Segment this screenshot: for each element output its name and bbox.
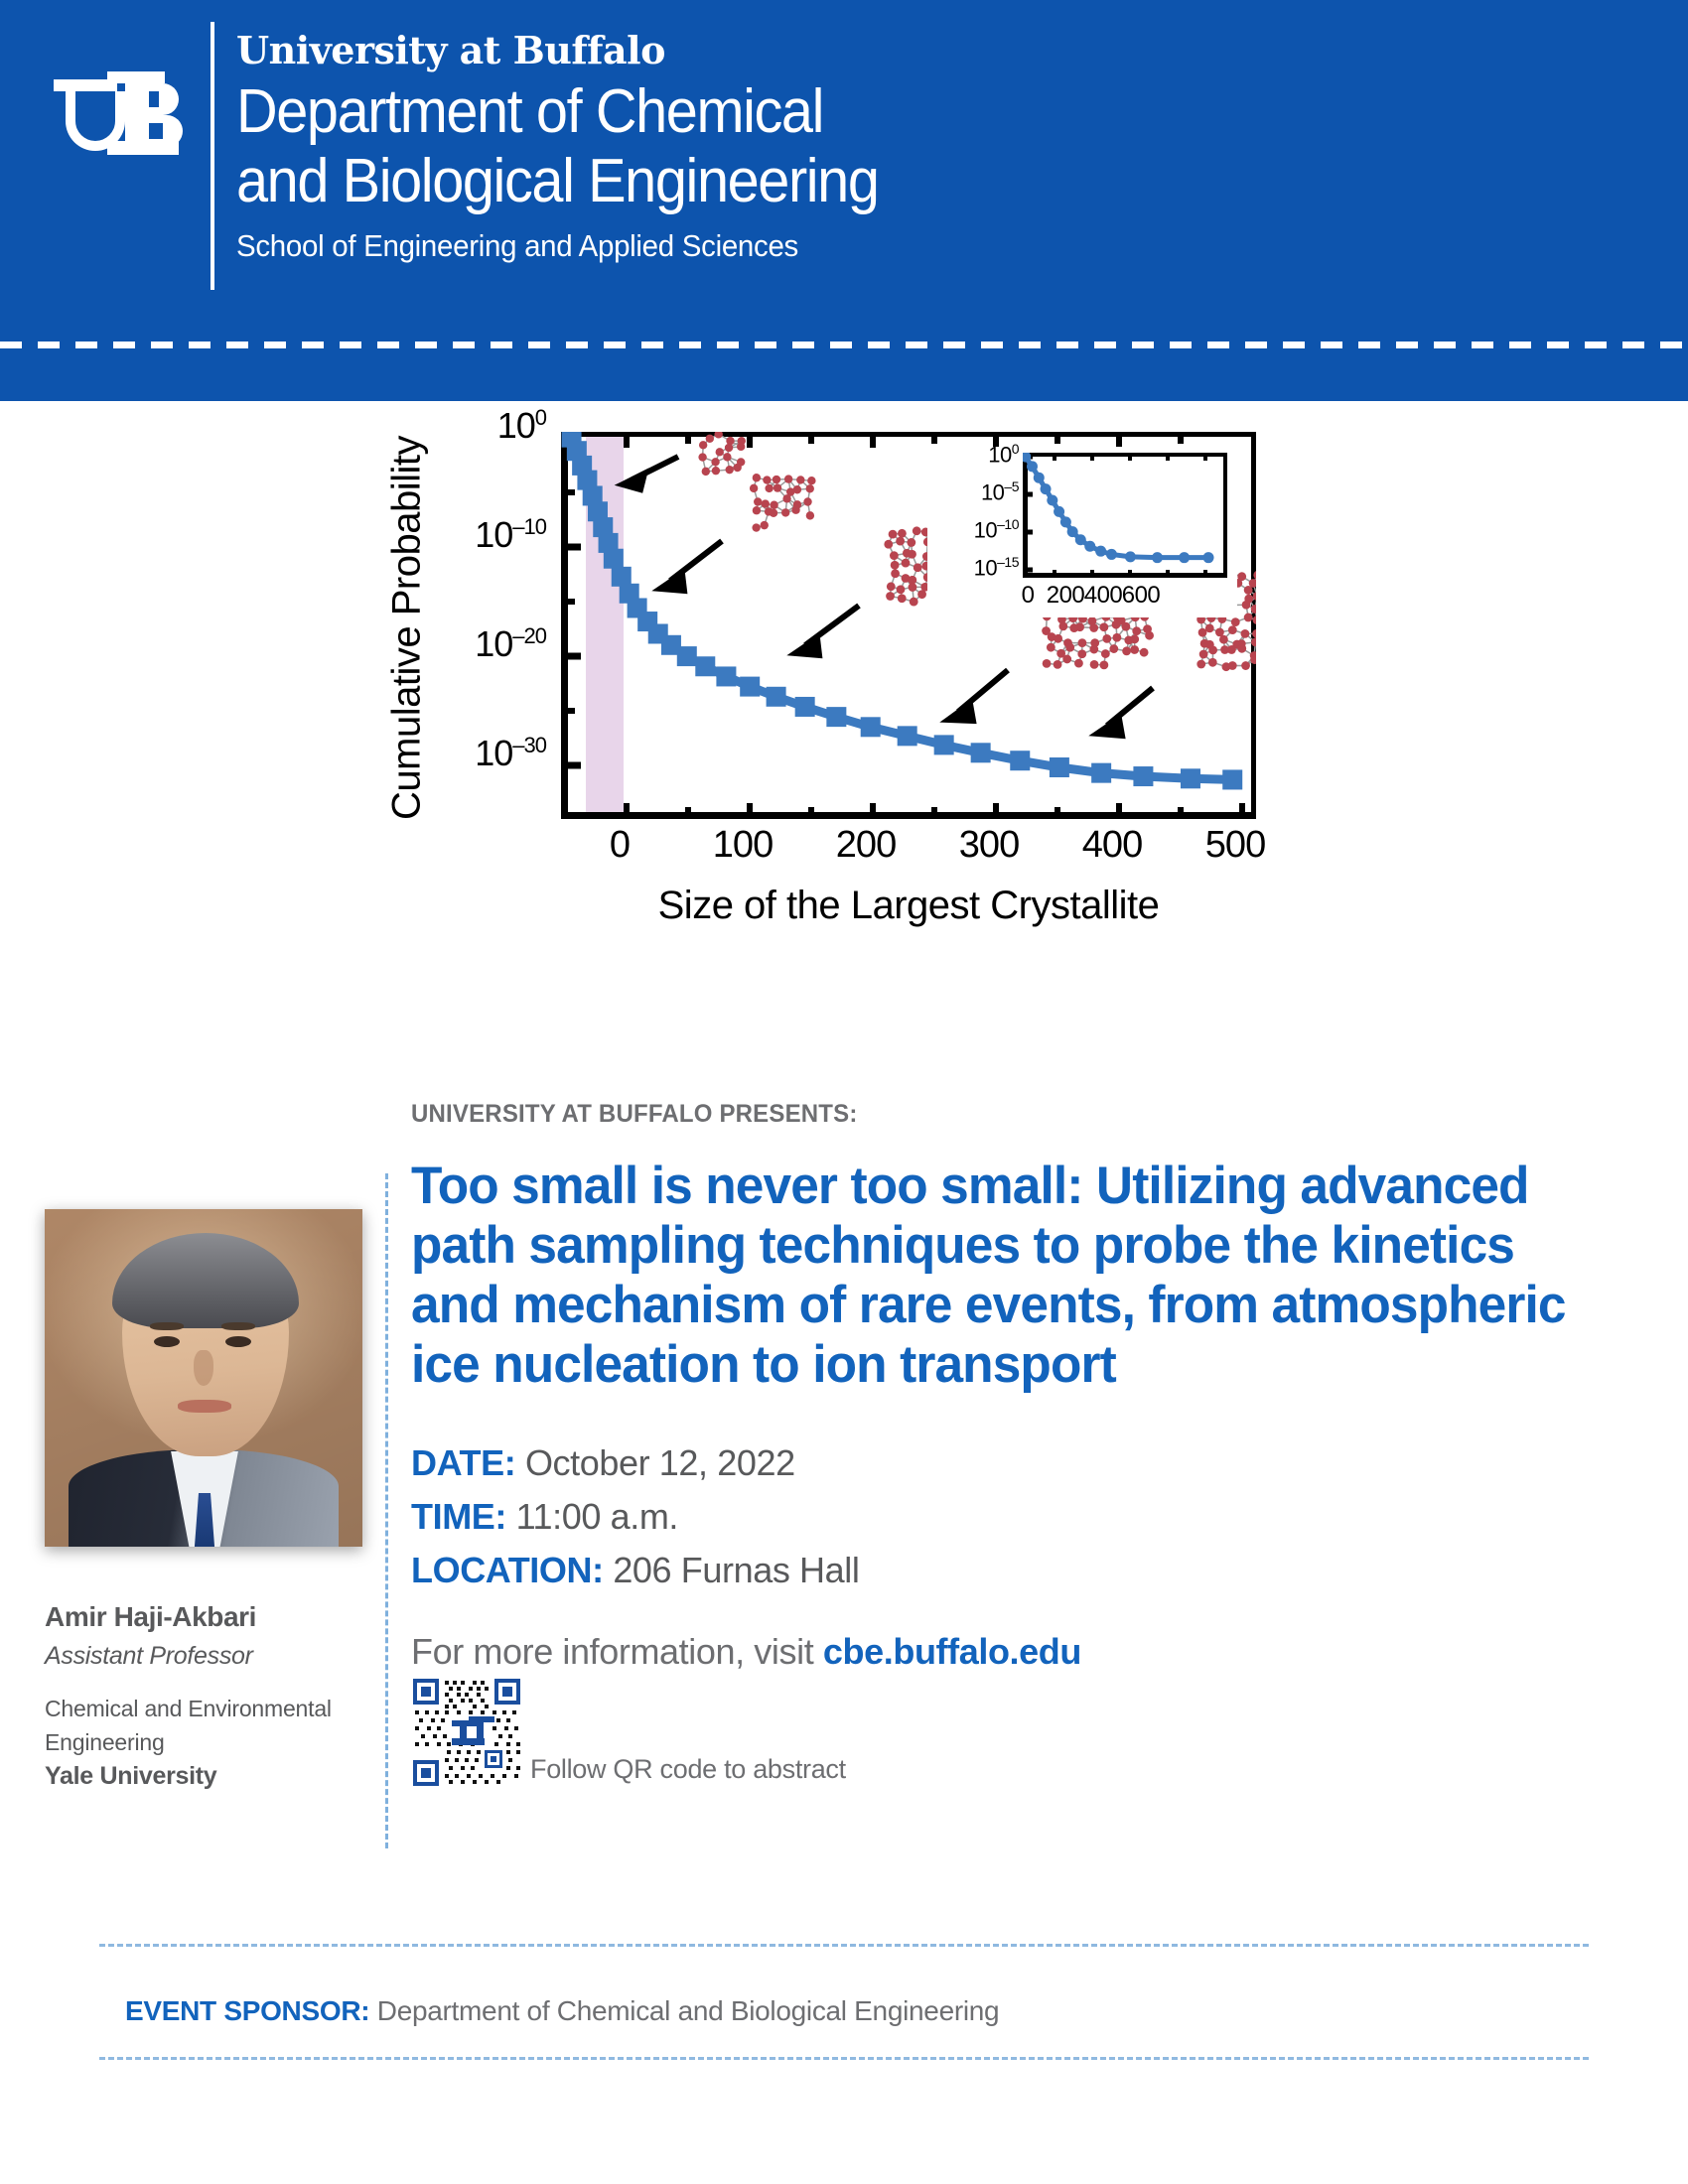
footer-dashed-rule-top <box>99 1944 1589 1947</box>
school-name: School of Engineering and Applied Scienc… <box>236 226 892 266</box>
x-tick-0: 0 <box>610 824 630 867</box>
inset-svg <box>1023 453 1227 578</box>
university-name: University at Buffalo <box>236 28 926 73</box>
qr-row: Follow QR code to abstract <box>411 1677 1622 1794</box>
speaker-name: Amir Haji-Akbari <box>45 1598 372 1636</box>
chart-y-tick-labels: 100 10–10 10–20 10–30 <box>387 427 546 814</box>
date-value: October 12, 2022 <box>525 1442 795 1483</box>
footer-dashed-rule-bottom <box>99 2057 1589 2060</box>
detail-row-date: DATE: October 12, 2022 <box>411 1436 1622 1490</box>
y-tick-m20: 10–20 <box>475 623 546 665</box>
more-info-line: For more information, visit cbe.buffalo.… <box>411 1631 1622 1673</box>
figure-cumulative-probability: Cumulative Probability 100 10–10 10–20 1… <box>278 427 1390 1023</box>
sponsor-value: Department of Chemical and Biological En… <box>377 1995 1000 2026</box>
speaker-university: Yale University <box>45 1759 372 1793</box>
location-value: 206 Furnas Hall <box>613 1550 859 1590</box>
x-tick-200: 200 <box>836 824 896 867</box>
main-content: UNIVERSITY AT BUFFALO PRESENTS: Too smal… <box>411 1100 1622 1794</box>
website-link[interactable]: cbe.buffalo.edu <box>823 1631 1081 1672</box>
qr-caption: Follow QR code to abstract <box>530 1754 846 1785</box>
department-line-1: Department of Chemical <box>236 77 879 147</box>
qr-code-icon[interactable] <box>411 1677 522 1788</box>
chart-x-tick-labels: 0 100 200 300 400 500 <box>561 824 1256 884</box>
chart-plot-area: 100 10–5 10–10 10–15 <box>561 432 1256 819</box>
sponsor-label: EVENT SPONSOR: <box>125 1995 369 2026</box>
logo-divider <box>211 22 214 290</box>
x-tick-300: 300 <box>959 824 1019 867</box>
detail-row-location: LOCATION: 206 Furnas Hall <box>411 1544 1622 1597</box>
location-label: LOCATION: <box>411 1550 604 1590</box>
chart-series-inset <box>1023 453 1214 563</box>
inset-x-tick-400: 400 <box>1084 582 1123 610</box>
speaker-department: Chemical and Environmental Engineering <box>45 1692 372 1759</box>
event-details: DATE: October 12, 2022 TIME: 11:00 a.m. … <box>411 1436 1622 1597</box>
time-value: 11:00 a.m. <box>516 1496 678 1537</box>
inset-x-tick-600: 600 <box>1122 582 1161 610</box>
page-header: University at Buffalo Department of Chem… <box>0 0 1688 401</box>
inset-y-tick-m5: 10–5 <box>981 478 1019 505</box>
speaker-info-block: Amir Haji-Akbari Assistant Professor Che… <box>45 1598 372 1793</box>
event-sponsor-line: EVENT SPONSOR: Department of Chemical an… <box>125 1995 999 2027</box>
inset-x-tick-0: 0 <box>1022 582 1035 610</box>
chart-x-axis-title: Size of the Largest Crystallite <box>561 884 1256 928</box>
time-label: TIME: <box>411 1496 506 1537</box>
speaker-photo <box>45 1209 362 1547</box>
chart-inset-plot-area <box>1023 453 1227 578</box>
header-text-block: University at Buffalo Department of Chem… <box>236 28 926 266</box>
department-line-2: and Biological Engineering <box>236 147 879 216</box>
vertical-dashed-divider <box>385 1173 388 1848</box>
date-label: DATE: <box>411 1442 515 1483</box>
inset-y-tick-0: 100 <box>988 441 1019 468</box>
inset-y-tick-m10: 10–10 <box>974 516 1019 543</box>
ub-logo-icon <box>50 62 197 169</box>
molecule-cluster-2 <box>750 474 816 532</box>
x-tick-400: 400 <box>1082 824 1142 867</box>
more-info-prefix: For more information, visit <box>411 1631 823 1672</box>
talk-title: Too small is never too small: Utilizing … <box>411 1157 1586 1395</box>
x-tick-100: 100 <box>713 824 773 867</box>
presents-eyebrow: UNIVERSITY AT BUFFALO PRESENTS: <box>411 1100 1574 1129</box>
speaker-role: Assistant Professor <box>45 1638 372 1674</box>
y-tick-0: 100 <box>497 405 546 447</box>
header-dashed-rule <box>0 341 1688 348</box>
y-tick-m10: 10–10 <box>475 514 546 556</box>
detail-row-time: TIME: 11:00 a.m. <box>411 1490 1622 1544</box>
molecule-cluster-1 <box>698 432 746 476</box>
inset-y-tick-m15: 10–15 <box>974 554 1019 581</box>
inset-x-tick-200: 200 <box>1047 582 1085 610</box>
chart-inset: 100 10–5 10–10 10–15 <box>927 447 1237 617</box>
x-tick-500: 500 <box>1205 824 1265 867</box>
y-tick-m30: 10–30 <box>475 733 546 774</box>
